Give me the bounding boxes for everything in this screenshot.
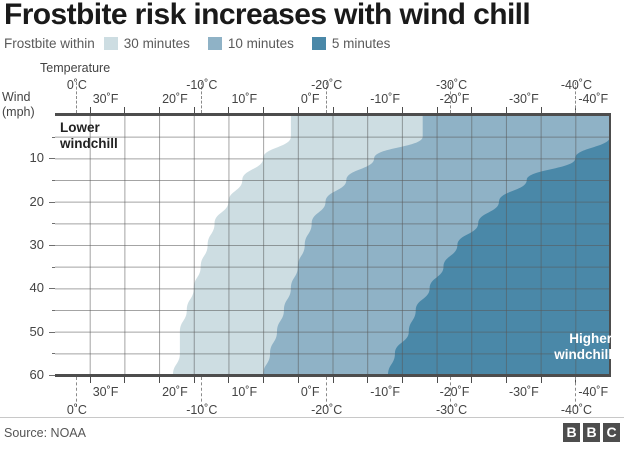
legend-label-10-minutes: 10 minutes	[228, 36, 294, 51]
x-tick-top-15F	[194, 107, 195, 113]
bbc-logo: B B C	[563, 423, 620, 442]
x-tick-bottom--10F	[367, 377, 368, 383]
x-label-top-f-4: -10˚F	[370, 92, 400, 106]
x-tick-bottom-20F	[159, 377, 160, 383]
plot-gridlines	[55, 115, 610, 375]
legend-swatch-5-minutes	[312, 37, 326, 50]
x-tick-bottom-10F	[228, 377, 229, 383]
y-label-10: 10	[10, 150, 44, 165]
y-tick-30	[49, 245, 55, 246]
y-minor-tick-25	[52, 223, 55, 224]
x-tick-top-5F	[263, 107, 264, 113]
annotation-higher-line2: windchill	[554, 347, 612, 363]
y-label-40: 40	[10, 280, 44, 295]
y-label-60: 60	[10, 367, 44, 382]
x-tick-top-10F	[228, 107, 229, 113]
x-label-top-f-1: 20˚F	[162, 92, 188, 106]
x-tick-bottom-0F	[298, 377, 299, 383]
x-label-top-f-5: -20˚F	[440, 92, 470, 106]
x-tick-bottom--30F	[506, 377, 507, 383]
x-label-bottom-f-0: 30˚F	[93, 385, 119, 399]
x-tick-bottom--35F	[541, 377, 542, 383]
legend-intro: Frostbite within	[4, 36, 95, 51]
x-label-top-c-4: -40˚C	[561, 78, 592, 92]
x-label-top-f-2: 10˚F	[231, 92, 257, 106]
y-tick-40	[49, 288, 55, 289]
x-tick-top-25F	[124, 107, 125, 113]
x-tick-top--30F	[506, 107, 507, 113]
x-tick-top--25F	[471, 107, 472, 113]
x-label-bottom-c-2: -20˚C	[311, 403, 342, 417]
bbc-logo-b1: B	[563, 423, 580, 442]
x-label-bottom-c-3: -30˚C	[436, 403, 467, 417]
y-label-30: 30	[10, 237, 44, 252]
x-label-bottom-c-1: -10˚C	[186, 403, 217, 417]
y-axis-caption-line2: (mph)	[2, 105, 35, 120]
y-minor-tick-35	[52, 267, 55, 268]
y-tick-20	[49, 202, 55, 203]
x-label-bottom-c-4: -40˚C	[561, 403, 592, 417]
x-label-bottom-c-0: 0˚C	[67, 403, 87, 417]
y-label-20: 20	[10, 194, 44, 209]
x-label-top-f-6: -30˚F	[509, 92, 539, 106]
y-minor-tick-55	[52, 353, 55, 354]
x-tick-top--35F	[541, 107, 542, 113]
bbc-logo-b2: B	[583, 423, 600, 442]
y-tick-10	[49, 158, 55, 159]
x-label-bottom-f-1: 20˚F	[162, 385, 188, 399]
source-label: Source: NOAA	[4, 426, 86, 440]
legend-item-10-minutes: 10 minutes	[208, 36, 294, 51]
x-label-top-c-3: -30˚C	[436, 78, 467, 92]
x-tick-bottom--25F	[471, 377, 472, 383]
x-tick-bottom--20F	[437, 377, 438, 383]
x-label-top-f-3: 0˚F	[301, 92, 320, 106]
legend-item-30-minutes: 30 minutes	[104, 36, 190, 51]
y-axis-caption-line1: Wind	[2, 90, 35, 105]
legend-item-5-minutes: 5 minutes	[312, 36, 391, 51]
plot-axis-top	[55, 113, 611, 116]
page-title: Frostbite risk increases with wind chill	[4, 0, 620, 32]
legend-swatch-30-minutes	[104, 37, 118, 50]
annotation-lower-line2: windchill	[60, 136, 118, 152]
legend-label-30-minutes: 30 minutes	[124, 36, 190, 51]
x-tick-top-0F	[298, 107, 299, 113]
x-tick-top-20F	[159, 107, 160, 113]
legend-label-5-minutes: 5 minutes	[332, 36, 391, 51]
y-label-50: 50	[10, 324, 44, 339]
bbc-logo-c: C	[603, 423, 620, 442]
x-label-bottom-f-5: -20˚F	[440, 385, 470, 399]
x-label-bottom-f-4: -10˚F	[370, 385, 400, 399]
x-axis-caption: Temperature	[40, 61, 110, 75]
x-label-bottom-f-7: -40˚F	[578, 385, 608, 399]
annotation-lower-windchill: Lower windchill	[60, 120, 118, 152]
x-label-bottom-f-3: 0˚F	[301, 385, 320, 399]
annotation-lower-line1: Lower	[60, 120, 118, 136]
x-tick-top--10F	[367, 107, 368, 113]
x-tick-bottom-5F	[263, 377, 264, 383]
chart-figure: Frostbite risk increases with wind chill…	[0, 0, 624, 452]
x-label-bottom-f-6: -30˚F	[509, 385, 539, 399]
plot-area	[55, 115, 610, 375]
x-tick-bottom--15F	[402, 377, 403, 383]
x-label-top-c-2: -20˚C	[311, 78, 342, 92]
y-axis-caption: Wind (mph)	[2, 90, 35, 120]
legend: Frostbite within 30 minutes 10 minutes 5…	[4, 35, 408, 51]
x-label-top-f-7: -40˚F	[578, 92, 608, 106]
x-label-top-f-0: 30˚F	[93, 92, 119, 106]
x-tick-top--5F	[333, 107, 334, 113]
x-tick-top--20F	[437, 107, 438, 113]
y-tick-50	[49, 332, 55, 333]
annotation-higher-windchill: Higher windchill	[554, 331, 612, 363]
x-tick-bottom-30F	[90, 377, 91, 383]
x-label-bottom-f-2: 10˚F	[231, 385, 257, 399]
x-label-top-c-1: -10˚C	[186, 78, 217, 92]
annotation-higher-line1: Higher	[554, 331, 612, 347]
x-tick-bottom--5F	[333, 377, 334, 383]
x-tick-top--15F	[402, 107, 403, 113]
y-tick-60	[49, 375, 55, 376]
legend-swatch-10-minutes	[208, 37, 222, 50]
footer-divider	[0, 417, 624, 418]
x-tick-bottom-25F	[124, 377, 125, 383]
y-minor-tick-5	[52, 137, 55, 138]
y-minor-tick-15	[52, 180, 55, 181]
x-tick-top-30F	[90, 107, 91, 113]
x-label-top-c-0: 0˚C	[67, 78, 87, 92]
y-minor-tick-45	[52, 310, 55, 311]
x-tick-bottom-15F	[194, 377, 195, 383]
